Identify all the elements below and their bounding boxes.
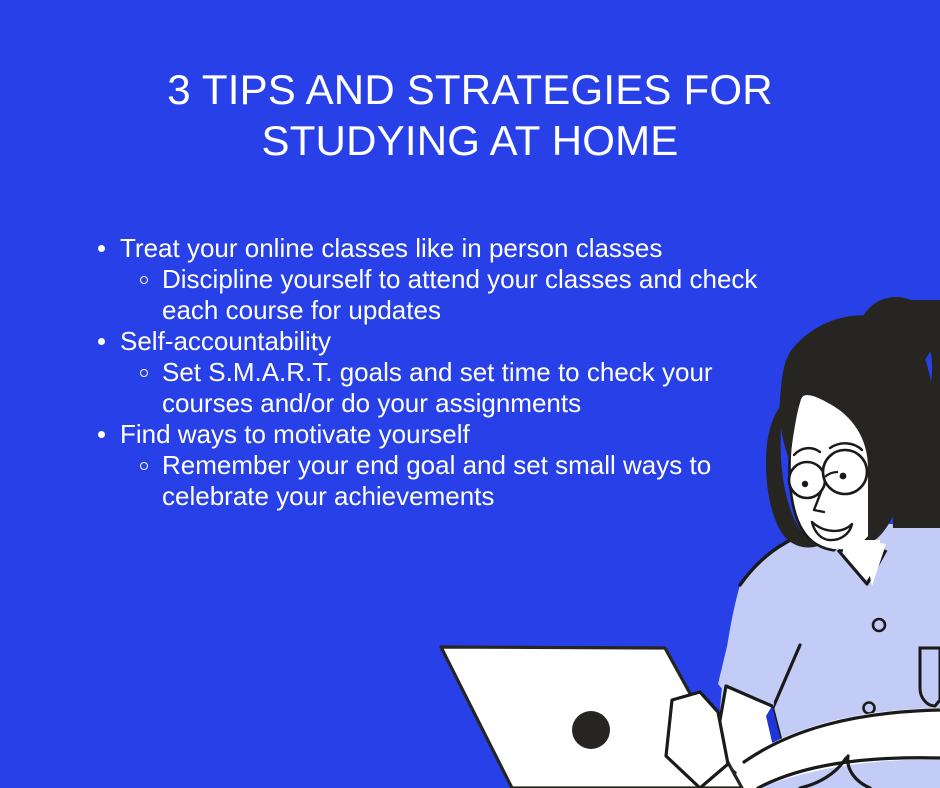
laptop-logo bbox=[572, 711, 610, 749]
list-item-label: Discipline yourself to attend your class… bbox=[162, 264, 788, 326]
shirt-button-upper bbox=[873, 619, 885, 631]
arm-right bbox=[728, 708, 940, 788]
glasses-bridge bbox=[825, 472, 838, 477]
list-item-label: Find ways to motivate yourself bbox=[120, 419, 788, 450]
bullet-disc-icon bbox=[98, 245, 105, 252]
face bbox=[789, 386, 882, 551]
nose bbox=[814, 492, 824, 512]
bullet-circle-icon bbox=[140, 369, 148, 377]
bullet-circle-icon bbox=[140, 462, 148, 470]
hand bbox=[848, 756, 870, 788]
list-item: Remember your end goal and set small way… bbox=[130, 450, 788, 512]
shirt-collar bbox=[864, 548, 925, 598]
mouth bbox=[812, 522, 852, 540]
pupil-left bbox=[802, 481, 808, 487]
hair bbox=[876, 300, 940, 528]
arm-right-outline bbox=[744, 710, 940, 762]
laptop-lid bbox=[441, 647, 742, 788]
hand bbox=[800, 758, 846, 788]
neck bbox=[843, 540, 880, 584]
list-item-label: Remember your end goal and set small way… bbox=[162, 450, 788, 512]
hair bbox=[786, 315, 931, 544]
list-item-label: Self-accountability bbox=[120, 326, 788, 357]
pupil-right bbox=[840, 473, 847, 480]
eyebrow-left bbox=[794, 448, 820, 455]
tips-list: Treat your online classes like in person… bbox=[88, 233, 788, 512]
list-item: Discipline yourself to attend your class… bbox=[130, 264, 788, 326]
shirt-shoulder-outline bbox=[740, 524, 845, 585]
bullet-circle-icon bbox=[140, 276, 148, 284]
slide-title: 3 TIPS AND STRATEGIES FOR STUDYING AT HO… bbox=[70, 64, 870, 166]
arm-right-outline bbox=[758, 758, 940, 788]
sleeve-seam bbox=[772, 645, 800, 710]
glasses-left-lens bbox=[789, 462, 825, 498]
eyebrow-right bbox=[830, 443, 862, 450]
shirt-body bbox=[718, 524, 940, 788]
list-item-label: Treat your online classes like in person… bbox=[120, 233, 788, 264]
sleeve-shadow bbox=[766, 706, 786, 768]
list-item: Set S.M.A.R.T. goals and set time to che… bbox=[130, 357, 788, 419]
shirt-collar-outline bbox=[838, 550, 886, 584]
hair-bun bbox=[858, 297, 934, 373]
slide-canvas: 3 TIPS AND STRATEGIES FOR STUDYING AT HO… bbox=[0, 0, 940, 788]
list-item-label: Set S.M.A.R.T. goals and set time to che… bbox=[162, 357, 788, 419]
list-item: Find ways to motivate yourself bbox=[88, 419, 788, 450]
shirt-button-lower bbox=[864, 703, 875, 714]
sleeve-left bbox=[718, 592, 774, 712]
shirt-pocket bbox=[920, 648, 940, 706]
shirt-collar-v bbox=[862, 540, 886, 586]
shirt-collar bbox=[820, 548, 870, 600]
bullet-disc-icon bbox=[98, 431, 105, 438]
list-item: Self-accountability bbox=[88, 326, 788, 357]
glasses-right-lens bbox=[823, 450, 867, 494]
bullet-disc-icon bbox=[98, 338, 105, 345]
list-item: Treat your online classes like in person… bbox=[88, 233, 788, 264]
hair bbox=[780, 320, 933, 544]
arm-left bbox=[714, 686, 786, 788]
hand bbox=[666, 692, 728, 788]
